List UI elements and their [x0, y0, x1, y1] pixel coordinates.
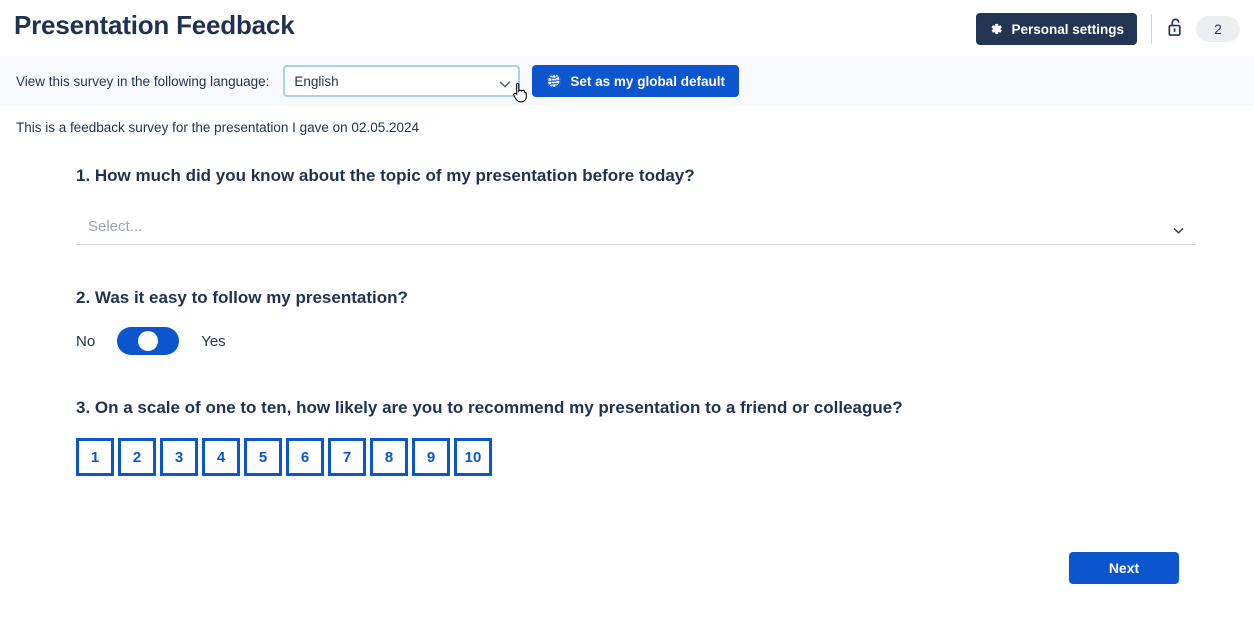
- scale-option-10[interactable]: 10: [454, 438, 492, 476]
- scale-option-1[interactable]: 1: [76, 438, 114, 476]
- gear-icon: [989, 22, 1003, 36]
- toggle-label-yes: Yes: [201, 333, 225, 350]
- question-3-scale-row: 1 2 3 4 5 6 7 8 9 10: [76, 438, 1196, 476]
- personal-settings-label: Personal settings: [1011, 22, 1124, 37]
- toggle-knob: [138, 331, 158, 351]
- set-global-default-button[interactable]: Set as my global default: [532, 65, 739, 97]
- question-3: 3. On a scale of one to ten, how likely …: [76, 397, 1196, 476]
- scale-option-4[interactable]: 4: [202, 438, 240, 476]
- question-2-title: 2. Was it easy to follow my presentation…: [76, 287, 1196, 309]
- survey-description: This is a feedback survey for the presen…: [16, 120, 419, 135]
- globe-icon: [546, 73, 562, 89]
- question-1-title: 1. How much did you know about the topic…: [76, 165, 1196, 187]
- scale-option-5[interactable]: 5: [244, 438, 282, 476]
- header-actions: Personal settings 2: [976, 13, 1240, 45]
- question-1: 1. How much did you know about the topic…: [76, 165, 1196, 245]
- question-1-select-wrapper: Select...: [76, 209, 1196, 245]
- question-2-toggle[interactable]: [117, 327, 179, 355]
- page-title: Presentation Feedback: [14, 10, 294, 41]
- question-3-title: 3. On a scale of one to ten, how likely …: [76, 397, 1196, 419]
- set-global-default-label: Set as my global default: [570, 74, 725, 89]
- scale-option-2[interactable]: 2: [118, 438, 156, 476]
- question-2-toggle-row: No Yes: [76, 327, 1196, 355]
- question-2: 2. Was it easy to follow my presentation…: [76, 287, 1196, 355]
- next-button[interactable]: Next: [1069, 552, 1179, 584]
- count-badge[interactable]: 2: [1196, 16, 1240, 42]
- language-label: View this survey in the following langua…: [16, 74, 269, 89]
- unlock-icon[interactable]: [1166, 16, 1185, 43]
- toggle-label-no: No: [76, 333, 95, 350]
- header-divider: [1151, 14, 1152, 44]
- language-bar: View this survey in the following langua…: [0, 56, 1254, 106]
- scale-option-8[interactable]: 8: [370, 438, 408, 476]
- scale-option-9[interactable]: 9: [412, 438, 450, 476]
- app-header: Presentation Feedback Personal settings …: [0, 0, 1254, 55]
- scale-option-3[interactable]: 3: [160, 438, 198, 476]
- language-select-wrapper: English: [283, 65, 520, 97]
- language-select[interactable]: English: [283, 65, 520, 97]
- scale-option-6[interactable]: 6: [286, 438, 324, 476]
- question-1-select[interactable]: Select...: [76, 209, 1196, 244]
- personal-settings-button[interactable]: Personal settings: [976, 13, 1137, 45]
- scale-option-7[interactable]: 7: [328, 438, 366, 476]
